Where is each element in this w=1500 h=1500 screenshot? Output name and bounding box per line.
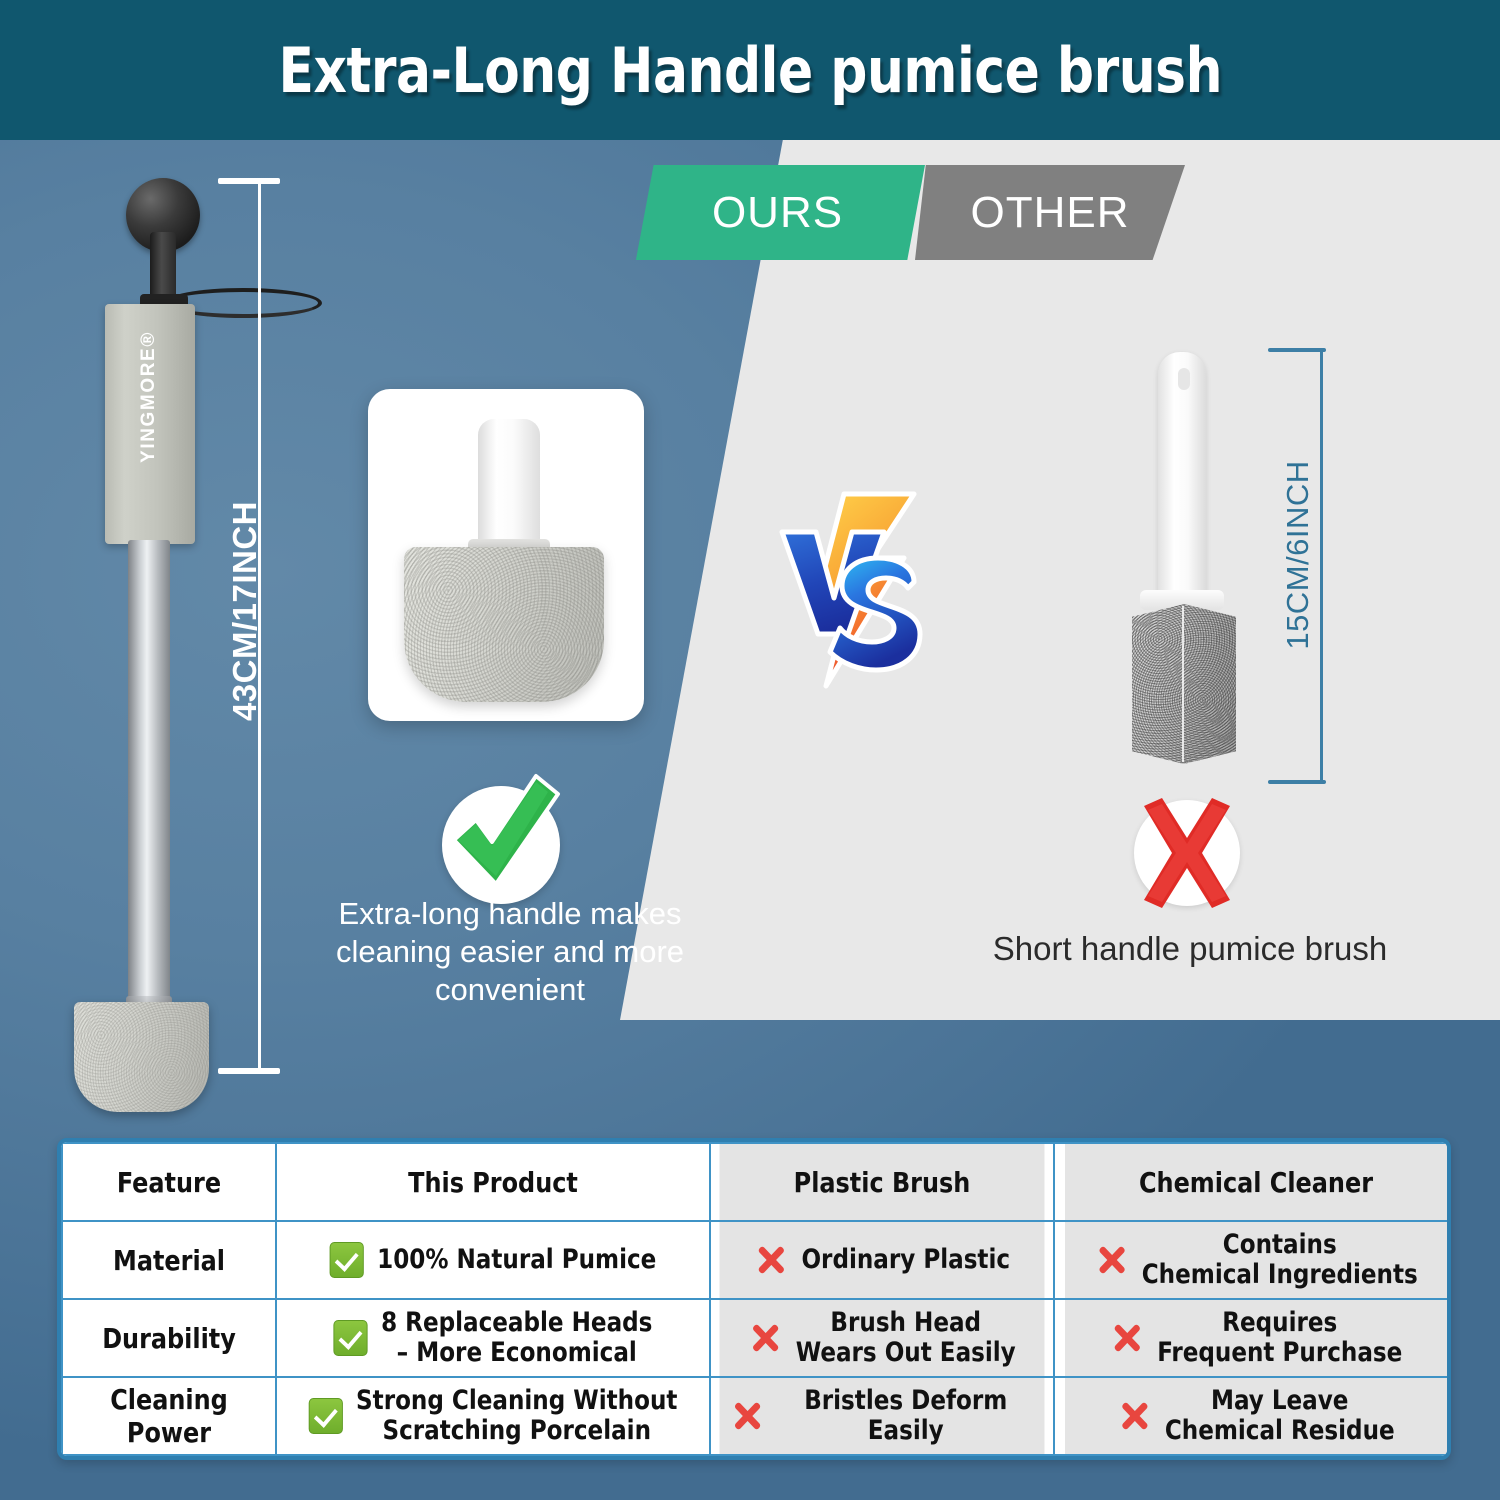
check-icon bbox=[309, 1398, 343, 1434]
cell-text: 8 Replaceable Heads– More Economical bbox=[381, 1308, 652, 1367]
left-product-caption: Extra-long handle makes cleaning easier … bbox=[290, 895, 730, 1008]
cell-text: Bristles Deform Easily bbox=[778, 1386, 1035, 1445]
cross-icon bbox=[748, 1320, 782, 1356]
chemical-cleaner-cell: ContainsChemical Ingredients bbox=[1064, 1221, 1448, 1299]
plastic-brush-cell: Bristles Deform Easily bbox=[719, 1377, 1046, 1455]
cross-icon bbox=[1117, 1398, 1151, 1434]
cell-content: 100% Natural Pumice bbox=[289, 1242, 698, 1278]
dimension-axis bbox=[1320, 348, 1323, 784]
cross-icon bbox=[730, 1398, 764, 1434]
banner-ours-segment: OURS bbox=[630, 165, 925, 260]
cell-content: 8 Replaceable Heads– More Economical bbox=[289, 1308, 698, 1367]
right-product-caption: Short handle pumice brush bbox=[860, 930, 1500, 968]
cell-text: Brush HeadWears Out Easily bbox=[796, 1308, 1016, 1367]
brush-grip: YINGMORE® bbox=[105, 304, 195, 544]
banner-ours-label: OURS bbox=[712, 188, 843, 238]
feature-cell: Cleaning Power bbox=[67, 1377, 270, 1455]
infographic-page: Extra-Long Handle pumice brush OURS OTHE… bbox=[0, 0, 1500, 1500]
versus-lightning-icon bbox=[768, 486, 948, 696]
cross-icon bbox=[1094, 1242, 1128, 1278]
right-dimension-line: 15CM/6INCH bbox=[1250, 342, 1340, 790]
table-row: Durability8 Replaceable Heads– More Econ… bbox=[62, 1299, 1451, 1377]
short-brush-stone-edge bbox=[1182, 606, 1184, 762]
brand-label: YINGMORE® bbox=[138, 307, 160, 487]
banner-other-label: OTHER bbox=[971, 188, 1130, 238]
right-dimension-label: 15CM/6INCH bbox=[1280, 445, 1316, 665]
dimension-tick-bottom bbox=[218, 1068, 280, 1074]
table-row: Cleaning PowerStrong Cleaning WithoutScr… bbox=[62, 1377, 1451, 1455]
cell-content: RequiresFrequent Purchase bbox=[1066, 1308, 1446, 1367]
plastic-brush-cell: Brush HeadWears Out Easily bbox=[719, 1299, 1046, 1377]
left-dimension-line: 43CM/17INCH bbox=[210, 172, 280, 1080]
green-check-icon bbox=[442, 786, 560, 904]
column-header: Chemical Cleaner bbox=[1064, 1143, 1448, 1221]
cell-content: Brush HeadWears Out Easily bbox=[721, 1308, 1044, 1367]
short-brush-pumice-head bbox=[1132, 604, 1236, 764]
photo-pumice-head bbox=[404, 547, 604, 702]
chemical-cleaner-cell: May LeaveChemical Residue bbox=[1064, 1377, 1448, 1455]
column-header: This Product bbox=[287, 1143, 699, 1221]
short-brush-hang-hole bbox=[1178, 368, 1190, 390]
feature-cell: Material bbox=[67, 1221, 270, 1299]
red-x-icon bbox=[1134, 800, 1240, 906]
cell-text: 100% Natural Pumice bbox=[377, 1245, 656, 1275]
cell-content: Strong Cleaning WithoutScratching Porcel… bbox=[289, 1386, 698, 1445]
dimension-tick-bottom bbox=[1268, 780, 1326, 784]
this-product-cell: 100% Natural Pumice bbox=[287, 1221, 699, 1299]
cell-content: ContainsChemical Ingredients bbox=[1066, 1230, 1446, 1289]
check-icon bbox=[330, 1242, 364, 1278]
cell-text: May LeaveChemical Residue bbox=[1165, 1386, 1395, 1445]
dimension-tick-top bbox=[1268, 348, 1326, 352]
column-header: Plastic Brush bbox=[719, 1143, 1046, 1221]
cross-icon bbox=[754, 1242, 788, 1278]
header-bar: Extra-Long Handle pumice brush bbox=[0, 0, 1500, 140]
comparison-table: FeatureThis ProductPlastic BrushChemical… bbox=[57, 1138, 1451, 1460]
left-dimension-label: 43CM/17INCH bbox=[226, 481, 264, 741]
cell-text: RequiresFrequent Purchase bbox=[1157, 1308, 1402, 1367]
cell-text: Ordinary Plastic bbox=[801, 1245, 1010, 1275]
table-row: Material100% Natural PumiceOrdinary Plas… bbox=[62, 1221, 1451, 1299]
banner-other-segment: OTHER bbox=[915, 165, 1185, 260]
brush-pumice-head bbox=[74, 1002, 209, 1112]
short-handle-brush-image bbox=[1120, 352, 1250, 782]
this-product-cell: Strong Cleaning WithoutScratching Porcel… bbox=[287, 1377, 699, 1455]
comparison-banner: OURS OTHER bbox=[630, 165, 1170, 260]
check-icon bbox=[334, 1320, 368, 1356]
photo-plastic-connector bbox=[478, 419, 540, 551]
feature-cell: Durability bbox=[67, 1299, 270, 1377]
page-title: Extra-Long Handle pumice brush bbox=[278, 34, 1222, 107]
short-brush-handle bbox=[1158, 352, 1206, 610]
dimension-tick-top bbox=[218, 178, 280, 184]
plastic-brush-cell: Ordinary Plastic bbox=[719, 1221, 1046, 1299]
cell-content: Bristles Deform Easily bbox=[721, 1386, 1044, 1445]
chemical-cleaner-cell: RequiresFrequent Purchase bbox=[1064, 1299, 1448, 1377]
cell-content: Ordinary Plastic bbox=[721, 1242, 1044, 1278]
competitor-panel bbox=[620, 140, 1500, 1020]
cell-text: Strong Cleaning WithoutScratching Porcel… bbox=[356, 1386, 677, 1445]
table-header-row: FeatureThis ProductPlastic BrushChemical… bbox=[62, 1143, 1451, 1221]
this-product-cell: 8 Replaceable Heads– More Economical bbox=[287, 1299, 699, 1377]
cell-content: May LeaveChemical Residue bbox=[1066, 1386, 1446, 1445]
product-photo-card bbox=[368, 389, 644, 721]
cell-text: ContainsChemical Ingredients bbox=[1142, 1230, 1418, 1289]
column-header: Feature bbox=[67, 1143, 270, 1221]
cross-icon bbox=[1110, 1320, 1144, 1356]
brush-steel-rod bbox=[128, 540, 170, 1000]
